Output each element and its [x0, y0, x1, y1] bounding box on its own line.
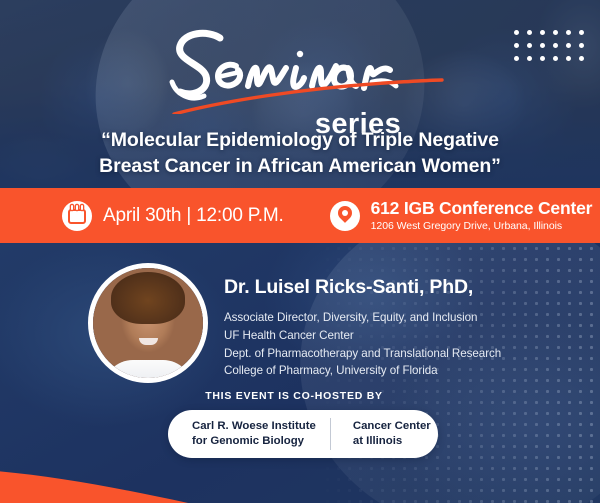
- affiliation-line: College of Pharmacy, University of Flori…: [224, 362, 584, 380]
- cohost-org-line: at Illinois: [353, 434, 431, 449]
- affiliation-line: Dept. of Pharmacotherapy and Translation…: [224, 345, 584, 363]
- calendar-icon: [62, 201, 92, 231]
- seminar-flyer: series “Molecular Epidemiology of Triple…: [0, 0, 600, 503]
- speaker-name: Dr. Luisel Ricks-Santi, PhD,: [224, 276, 584, 299]
- speaker-headshot: [88, 263, 208, 383]
- cohost-label: THIS EVENT IS CO-HOSTED BY: [0, 390, 594, 402]
- event-details-bar: April 30th | 12:00 P.M. 612 IGB Conferen…: [0, 188, 600, 243]
- cohost-logos-pill: Carl R. Woese Institute for Genomic Biol…: [168, 410, 438, 458]
- event-date-time: April 30th | 12:00 P.M.: [103, 205, 284, 227]
- event-date-block: April 30th | 12:00 P.M.: [62, 201, 284, 231]
- seminar-script-icon: [150, 22, 450, 114]
- title-line-2: Breast Cancer in African American Women”: [40, 154, 560, 180]
- seminar-wordmark: series: [0, 22, 600, 122]
- cohost-org-line: Cancer Center: [353, 419, 431, 434]
- cohost-org-line: Carl R. Woese Institute: [192, 419, 316, 434]
- cohost-org-cancer-center: Cancer Center at Illinois: [339, 419, 445, 449]
- speaker-affiliations: Associate Director, Diversity, Equity, a…: [224, 309, 584, 379]
- cohost-org-line: for Genomic Biology: [192, 434, 316, 449]
- event-address: 1206 West Gregory Drive, Urbana, Illinoi…: [371, 220, 593, 232]
- cohost-org-igb: Carl R. Woese Institute for Genomic Biol…: [178, 419, 330, 449]
- speaker-info: Dr. Luisel Ricks-Santi, PhD, Associate D…: [224, 276, 584, 380]
- cohost-divider: [330, 418, 331, 450]
- page-title: “Molecular Epidemiology of Triple Negati…: [40, 128, 560, 180]
- event-location-block: 612 IGB Conference Center 1206 West Greg…: [330, 199, 593, 232]
- location-pin-icon: [330, 201, 360, 231]
- title-line-1: “Molecular Epidemiology of Triple Negati…: [40, 128, 560, 154]
- event-venue: 612 IGB Conference Center: [371, 199, 593, 219]
- affiliation-line: UF Health Cancer Center: [224, 327, 584, 345]
- affiliation-line: Associate Director, Diversity, Equity, a…: [224, 309, 584, 327]
